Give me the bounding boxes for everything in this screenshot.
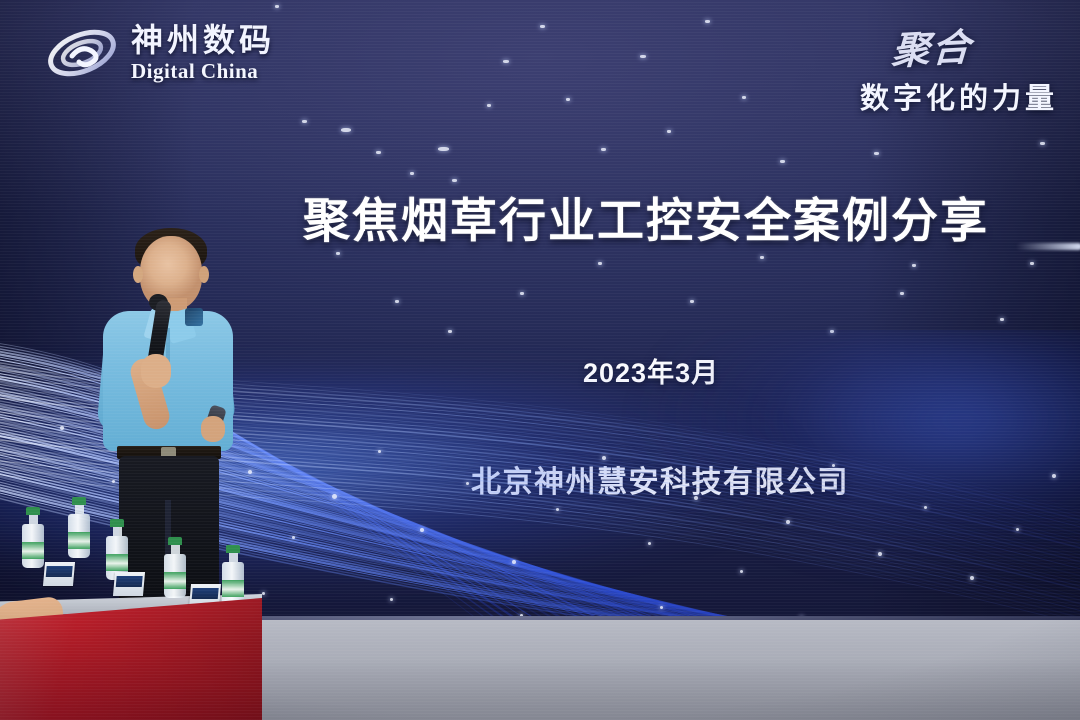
bottle-label [164,572,186,589]
slogan-subtitle: 数字化的力量 [860,75,1058,117]
wave-particle [60,426,64,430]
screen-particle [1030,262,1034,265]
bottle-neck [171,545,180,554]
wave-particle [466,482,469,485]
conference-stage-photo: 神州数码 Digital China 聚合 数字化的力量 聚焦烟草行业工控安全案… [0,0,1080,720]
water-bottle [68,497,90,558]
digital-china-brand-logo: 神州数码 Digital China [45,22,275,84]
screen-particle [341,128,351,132]
screen-particle [667,130,671,133]
screen-particle [566,98,570,101]
wave-particle [262,592,265,595]
name-card-band [192,588,219,599]
wave-particle [740,570,743,573]
wave-particle [602,456,606,460]
screen-particle [302,120,307,123]
digital-china-swirl-icon [45,22,119,84]
bottle-body [164,554,186,598]
screen-particle [438,147,449,151]
wave-particle [878,552,882,556]
screen-particle [601,148,606,151]
bottle-neck [75,505,84,514]
screen-particle [705,20,710,23]
wave-particle [1016,528,1019,531]
bottle-neck [229,553,238,562]
wave-particle [694,496,698,500]
bottle-cap [72,497,86,505]
presenter-shirt-emblem-icon [185,308,203,326]
screen-particle [1040,142,1045,145]
bottle-neck [29,515,38,524]
screen-particle [780,160,785,163]
screen-particle [410,172,414,175]
event-slogan: 聚合 数字化的力量 [860,18,1058,117]
screen-light-streak [1016,243,1080,250]
screen-particle [503,60,509,63]
bottle-label [68,532,90,549]
bottle-label [222,580,244,597]
brand-name-cn: 神州数码 [131,24,275,56]
bottle-body [222,562,244,606]
water-bottle [164,537,186,598]
presenter-ear-left [133,266,143,283]
screen-particle [376,151,381,154]
wave-particle [832,464,835,467]
wave-particle [786,520,790,524]
bottle-label [106,554,128,571]
wave-particle [390,598,393,601]
screen-particle [275,5,279,8]
wave-particle [248,470,252,474]
wave-particle [648,542,651,545]
screen-particle [336,252,340,255]
bottle-cap [26,507,40,515]
water-bottle [22,507,44,568]
screen-particle [598,262,602,265]
screen-particle [395,300,399,303]
presenter-ear-right [199,266,209,283]
screen-particle [760,256,764,259]
wave-particle [332,494,337,499]
presenter-hand-holding-mic [141,354,171,388]
water-bottle [222,545,244,606]
wave-particle [512,560,516,564]
screen-particle [540,25,545,28]
wave-particle [1052,474,1056,478]
bottle-neck [113,527,122,536]
bottle-body [22,524,44,568]
wave-particle [660,606,663,609]
name-card-band [116,576,143,587]
brand-name-en: Digital China [131,61,275,82]
bottle-cap [226,545,240,553]
screen-particle [900,292,904,295]
screen-particle [520,292,524,295]
foreground-table [0,568,262,720]
screen-particle [912,264,916,267]
presenter-hand-right [201,416,225,442]
wave-particle [378,450,381,453]
wave-particle [292,536,295,539]
screen-particle [742,96,746,99]
screen-particle [1000,318,1004,321]
red-tablecloth [0,598,262,720]
screen-particle [640,55,646,58]
wave-particle [420,528,424,532]
name-card [43,562,75,586]
bottle-body [68,514,90,558]
wave-particle [556,508,559,511]
wave-particle [970,576,974,580]
bottle-cap [168,537,182,545]
water-bottle [106,519,128,580]
screen-particle [487,104,491,107]
slogan-calligraphy: 聚合 [890,16,973,75]
screen-particle [690,300,694,303]
name-card-band [46,566,73,577]
screen-particle [874,152,879,155]
wave-particle [924,506,927,509]
name-card [113,572,145,596]
slide-title: 聚焦烟草行业工控安全案例分享 [303,182,989,251]
bottle-cap [110,519,124,527]
bottle-label [22,542,44,559]
